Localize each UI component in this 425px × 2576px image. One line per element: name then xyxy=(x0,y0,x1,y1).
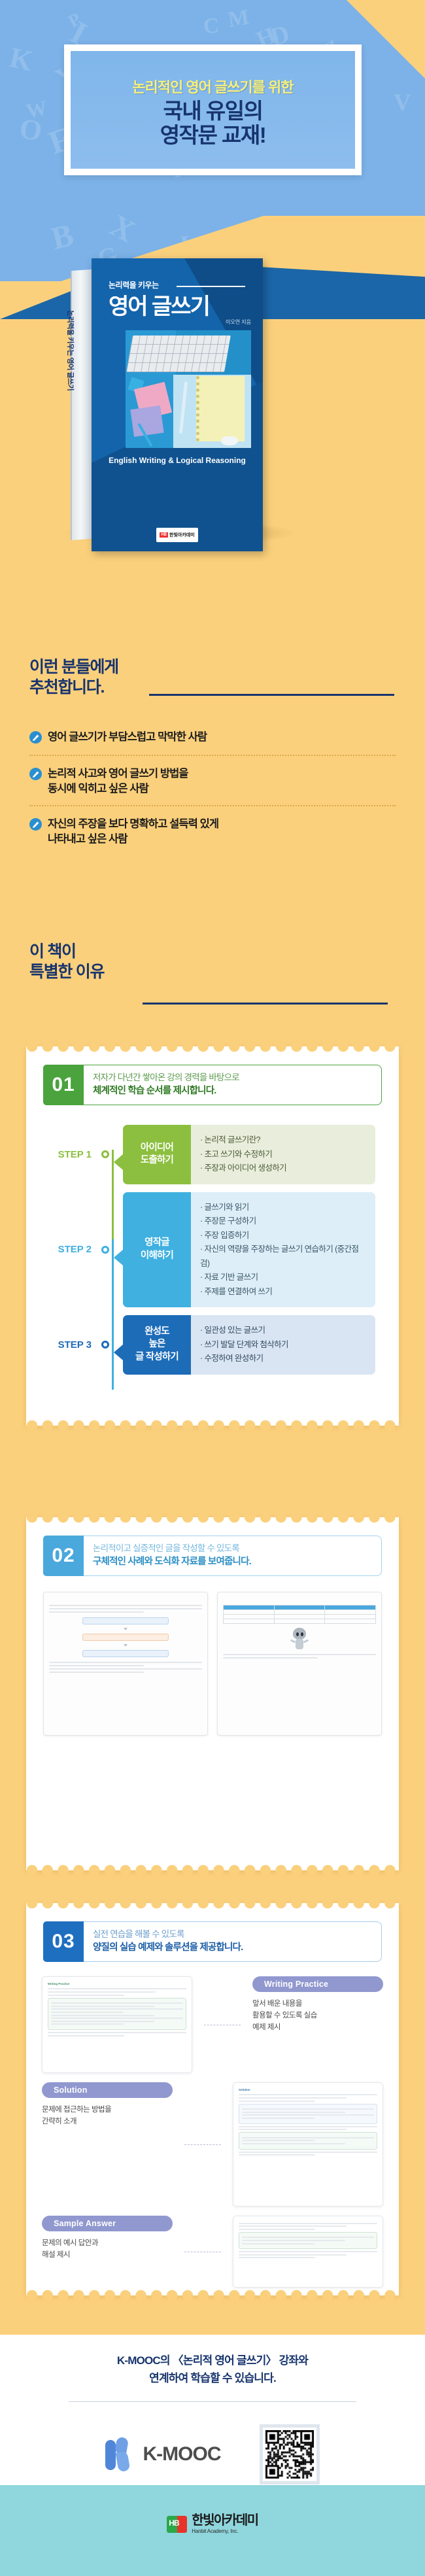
card-header-02: 02 논리적이고 실증적인 글을 작성할 수 있도록 구체적인 사례와 도식화 … xyxy=(43,1536,382,1576)
step-label: STEP 1 xyxy=(50,1149,98,1160)
list-item: 자신의 주장을 보다 명확하고 설득력 있게 나타내고 싶은 사람 xyxy=(29,805,396,855)
card-header-03: 03 실전 연습을 해볼 수 있도록 양질의 실습 예제와 솔루션을 제공합니다… xyxy=(43,1921,382,1962)
why-heading-line1: 이 책이 xyxy=(29,942,76,961)
card-teeth-bottom xyxy=(26,1420,399,1432)
step-bullets: 일관성 있는 글쓰기 쓰기 발달 단계와 첨삭하기 수정하여 완성하기 xyxy=(191,1315,375,1375)
book-cover: 논리력을 키우는 영어 글쓰기 이오연 지음 English Writing xyxy=(92,258,263,551)
step-row-1: STEP 1 아이디어도출하기 논리적 글쓰기란? 초고 쓰기와 수정하기 주장… xyxy=(50,1125,375,1184)
hanbit-logo: HB 한빛아카데미 Hanbit Academy, Inc. xyxy=(0,2485,425,2534)
cover-photo xyxy=(126,330,251,448)
card-teeth-top xyxy=(26,1511,399,1523)
card-subtitle: 실전 연습을 해볼 수 있도록 xyxy=(93,1928,372,1941)
mouse-icon xyxy=(221,436,238,445)
publisher-name: 한빛아카데미 xyxy=(169,533,195,538)
book-spine-title: 논리력을 키우는 영어 글쓰기 xyxy=(65,310,76,507)
promo-page: ATJDGIFATJDGUYOVLEXBMJNYSBKQPRCWZH 논리적인 … xyxy=(0,0,425,2576)
recommend-heading: 이런 분들에게 추천합니다. xyxy=(0,608,425,697)
qr-code-image[interactable] xyxy=(265,2430,314,2479)
hero-title-line1: 국내 유일의 xyxy=(160,99,265,124)
card-teeth-bottom xyxy=(26,1864,399,1876)
practice-row-1: Writing Practice Writing Practice 앞서 배운 … xyxy=(42,1976,383,2073)
kmooc-divider xyxy=(69,2401,356,2402)
why-heading: 이 책이 특별한 이유 xyxy=(0,942,425,982)
sample-document-solution: Solution xyxy=(233,2082,383,2207)
decorative-letter: K xyxy=(7,41,35,78)
decorative-letter: W xyxy=(24,95,50,124)
sample-document-answer xyxy=(233,2216,383,2288)
feature-card-03: 03 실전 연습을 해볼 수 있도록 양질의 실습 예제와 솔루션을 제공합니다… xyxy=(26,1903,399,2295)
step-connector-2 xyxy=(112,1239,114,1390)
figure-diagram-left xyxy=(43,1592,208,1736)
recommend-item-text: 자신의 주장을 보다 명확하고 설득력 있게 나타내고 싶은 사람 xyxy=(48,817,218,848)
why-heading-line2: 특별한 이유 xyxy=(29,963,104,981)
step-diagram: STEP 1 아이디어도출하기 논리적 글쓰기란? 초고 쓰기와 수정하기 주장… xyxy=(50,1125,375,1375)
step-bullets: 논리적 글쓰기란? 초고 쓰기와 수정하기 주장과 아이디어 생성하기 xyxy=(191,1125,375,1184)
step-row-3: STEP 3 완성도높은글 작성하기 일관성 있는 글쓰기 쓰기 발달 단계와 … xyxy=(50,1315,375,1375)
book-mockup: 논리력을 키우는 영어 글쓰기 논리력을 키우는 영어 글쓰기 이오연 지음 xyxy=(71,258,286,553)
tag-writing-practice: Writing Practice 앞서 배운 내용을 활용할 수 있도록 실습 … xyxy=(252,1976,383,2033)
purple-note-icon xyxy=(130,405,163,437)
step-dot xyxy=(98,1246,112,1254)
tag-description: 앞서 배운 내용을 활용할 수 있도록 실습 예제 제시 xyxy=(252,1999,383,2033)
hero-title-frame: 논리적인 영어 글쓰기를 위한 국내 유일의 영작문 교재! xyxy=(64,44,362,175)
card-subtitle: 저자가 다년간 쌓아온 강의 경력을 바탕으로 xyxy=(93,1071,372,1084)
why-special-section: 이 책이 특별한 이유 xyxy=(0,942,425,982)
cover-rule xyxy=(177,286,245,287)
tag-label: Sample Answer xyxy=(42,2216,173,2231)
kmooc-logo-row: K-MOOC xyxy=(0,2424,425,2484)
kmooc-headline: K-MOOC의 〈논리적 영어 글쓰기〉 강좌와 연계하여 학습할 수 있습니다… xyxy=(0,2335,425,2387)
cover-title: 영어 글쓰기 xyxy=(109,288,209,320)
card-02-figures xyxy=(43,1592,382,1736)
practice-row-3: Sample Answer 문제의 예시 답안과 해설 제시 xyxy=(42,2216,383,2288)
card-subtitle: 논리적이고 실증적인 글을 작성할 수 있도록 xyxy=(93,1542,372,1555)
tag-label: Writing Practice xyxy=(252,1976,383,1992)
kmooc-wordmark: K-MOOC xyxy=(143,2443,221,2465)
step-title: 영작글이해하기 xyxy=(123,1192,191,1308)
step-dot xyxy=(98,1341,112,1348)
cover-author: 이오연 지음 xyxy=(226,318,251,326)
list-item: 논리적 사고와 영어 글쓰기 방법을 동시에 익히고 싶은 사람 xyxy=(29,755,396,805)
feature-card-02: 02 논리적이고 실증적인 글을 작성할 수 있도록 구체적인 사례와 도식화 … xyxy=(26,1517,399,1870)
keyboard-illustration xyxy=(126,335,231,372)
hanbit-mark-text: HB xyxy=(169,2518,178,2528)
card-teeth-top xyxy=(26,1897,399,1909)
card-teeth-bottom xyxy=(26,2290,399,2301)
card-03-figures: Writing Practice Writing Practice 앞서 배운 … xyxy=(42,1976,383,2288)
kmooc-headline-line1: K-MOOC의 〈논리적 영어 글쓰기〉 강좌와 xyxy=(117,2354,308,2367)
footer-bar: HB 한빛아카데미 Hanbit Academy, Inc. xyxy=(0,2485,425,2576)
doc-header-practice: Writing Practice xyxy=(48,1982,186,1986)
pen-bullet-icon xyxy=(29,768,42,783)
kmooc-headline-line2: 연계하여 학습할 수 있습니다. xyxy=(149,2372,276,2384)
recommend-heading-line1: 이런 분들에게 xyxy=(29,658,118,676)
tag-label: Solution xyxy=(42,2082,173,2098)
doc-header-solution: Solution xyxy=(239,2087,377,2092)
hanbit-brand-en: Hanbit Academy, Inc. xyxy=(192,2528,258,2534)
pen-bullet-icon xyxy=(29,818,42,834)
tag-description: 문제에 접근하는 방법을 간략히 소개 xyxy=(42,2104,173,2128)
pen-bullet-icon xyxy=(29,731,42,747)
figure-diagram-right xyxy=(217,1592,382,1736)
hero-subtitle: 논리적인 영어 글쓰기를 위한 xyxy=(132,76,293,97)
hanbit-mark-icon: HB xyxy=(167,2516,187,2533)
recommend-section: 이런 분들에게 추천합니다. 영어 글쓰기가 부담스럽고 막막한 사람 논리적 … xyxy=(0,608,425,974)
card-title: 구체적인 사례와 도식화 자료를 보여줍니다. xyxy=(93,1555,372,1570)
card-number: 03 xyxy=(43,1921,84,1962)
qr-code-frame[interactable] xyxy=(260,2424,320,2484)
step-bullets: 글쓰기와 읽기 주장문 구성하기 주장 입증하기 자신의 역량을 주장하는 글쓰… xyxy=(191,1192,375,1308)
recommend-list: 영어 글쓰기가 부담스럽고 막막한 사람 논리적 사고와 영어 글쓰기 방법을 … xyxy=(29,729,396,855)
decorative-letter: B xyxy=(48,216,78,257)
cover-english-subtitle: English Writing & Logical Reasoning xyxy=(92,456,263,465)
sample-document-practice: Writing Practice xyxy=(42,1976,192,2073)
cover-publisher-logo: HB한빛아카데미 xyxy=(92,528,263,542)
list-item: 영어 글쓰기가 부담스럽고 막막한 사람 xyxy=(29,729,396,755)
feature-card-01: 01 저자가 다년간 쌓아온 강의 경력을 바탕으로 체계적인 학습 순서를 제… xyxy=(26,1046,399,1426)
step-label: STEP 2 xyxy=(50,1244,98,1255)
connector-dashed-2 xyxy=(184,2144,221,2145)
alien-illustration xyxy=(288,1628,311,1653)
tag-sample-answer: Sample Answer 문제의 예시 답안과 해설 제시 xyxy=(42,2216,173,2261)
recommend-item-text: 영어 글쓰기가 부담스럽고 막막한 사람 xyxy=(48,730,207,745)
kmooc-mark-icon xyxy=(105,2437,137,2471)
why-heading-rule xyxy=(143,1003,388,1005)
card-number: 01 xyxy=(43,1065,84,1105)
decorative-letter: M xyxy=(226,5,251,33)
card-teeth-top xyxy=(26,1040,399,1052)
tag-solution: Solution 문제에 접근하는 방법을 간략히 소개 xyxy=(42,2082,173,2128)
recommend-heading-rule xyxy=(149,694,394,696)
recommend-heading-line2: 추천합니다. xyxy=(29,678,104,696)
practice-row-2: Solution 문제에 접근하는 방법을 간략히 소개 Solution xyxy=(42,2082,383,2207)
hero-title-line2: 영작문 교재! xyxy=(160,124,265,148)
tag-description: 문제의 예시 답안과 해설 제시 xyxy=(42,2238,173,2261)
card-title: 양질의 실습 예제와 솔루션을 제공합니다. xyxy=(93,1941,372,1955)
connector-dashed-3 xyxy=(184,2252,221,2252)
step-title: 완성도높은글 작성하기 xyxy=(123,1315,191,1375)
publisher-mark: HB xyxy=(160,532,168,538)
notepad-icon xyxy=(196,376,245,441)
step-row-2: STEP 2 영작글이해하기 글쓰기와 읽기 주장문 구성하기 주장 입증하기 … xyxy=(50,1192,375,1308)
decorative-letter: C xyxy=(203,14,219,39)
step-label: STEP 3 xyxy=(50,1339,98,1350)
book-spine: 논리력을 키우는 영어 글쓰기 xyxy=(71,269,93,540)
kmooc-logo: K-MOOC xyxy=(105,2437,221,2471)
step-dot xyxy=(98,1150,112,1158)
card-number: 02 xyxy=(43,1536,84,1576)
connector-dashed-1 xyxy=(204,2025,241,2025)
hero-section: ATJDGIFATJDGUYOVLEXBMJNYSBKQPRCWZH 논리적인 … xyxy=(0,0,425,608)
recommend-item-text: 논리적 사고와 영어 글쓰기 방법을 동시에 익히고 싶은 사람 xyxy=(48,766,188,797)
card-header-01: 01 저자가 다년간 쌓아온 강의 경력을 바탕으로 체계적인 학습 순서를 제… xyxy=(43,1065,382,1105)
decorative-letter: V xyxy=(394,89,411,117)
card-title: 체계적인 학습 순서를 제시합니다. xyxy=(93,1084,372,1099)
hanbit-brand-kr: 한빛아카데미 xyxy=(192,2514,258,2527)
step-title: 아이디어도출하기 xyxy=(123,1125,191,1184)
